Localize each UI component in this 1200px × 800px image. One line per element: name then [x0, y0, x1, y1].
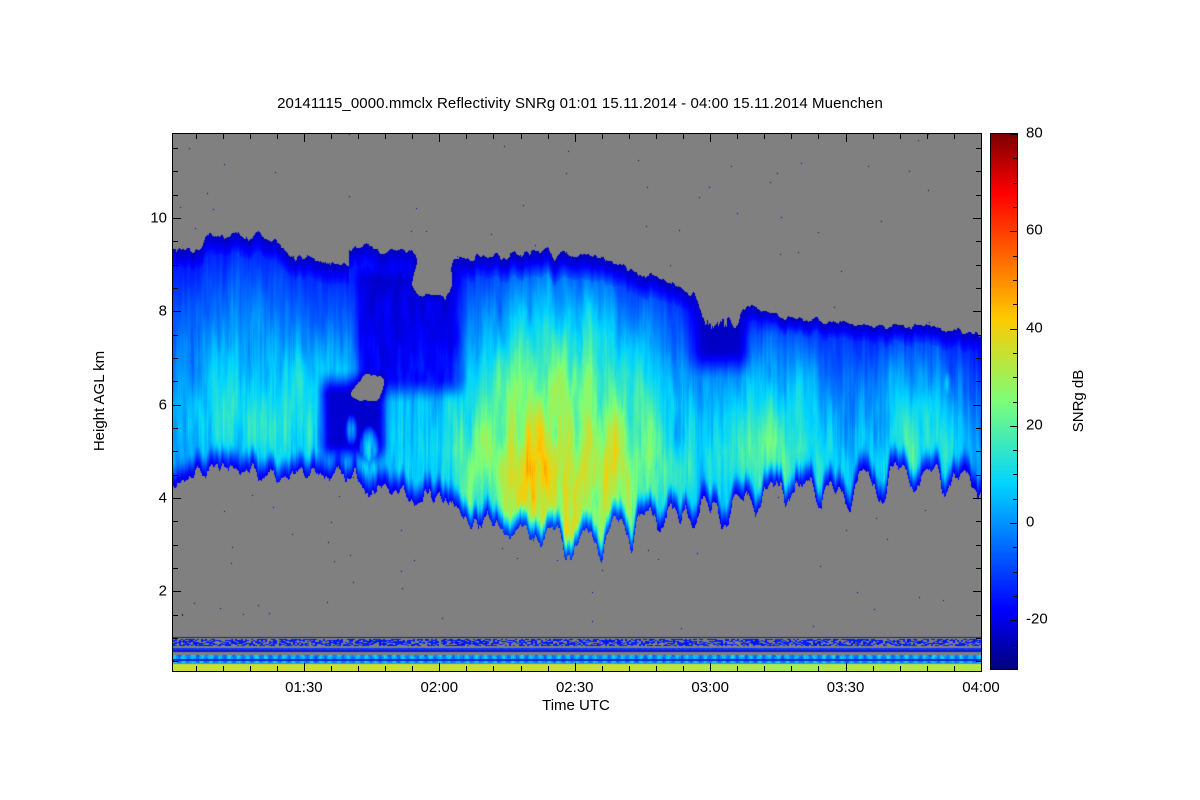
y-axis-tick-right	[973, 218, 982, 219]
x-axis-tick	[331, 666, 332, 672]
y-axis-tick	[172, 335, 178, 336]
x-axis-tick-top	[223, 133, 224, 139]
y-axis-tick-label: 2	[159, 583, 167, 600]
x-axis-tick-top	[196, 133, 197, 139]
y-axis-tick-right	[976, 381, 982, 382]
colorbar-tick	[1013, 450, 1018, 451]
x-axis-tick-top	[304, 133, 305, 142]
x-axis-tick	[521, 666, 522, 672]
x-axis-tick	[710, 663, 711, 672]
x-axis-tick-top	[656, 133, 657, 139]
x-axis-tick-label: 04:00	[962, 679, 1000, 696]
x-axis-tick-top	[764, 133, 765, 139]
x-axis-tick	[493, 666, 494, 672]
colorbar-tick	[1013, 547, 1018, 548]
x-axis-tick	[791, 666, 792, 672]
x-axis-tick	[223, 666, 224, 672]
y-axis-tick-right	[976, 428, 982, 429]
y-axis-title: Height AGL km	[91, 351, 108, 451]
y-axis-tick	[172, 591, 181, 592]
x-axis-tick	[412, 666, 413, 672]
y-axis-tick-right	[976, 335, 982, 336]
x-axis-tick-label: 02:30	[556, 679, 594, 696]
x-axis-tick-top	[358, 133, 359, 139]
y-axis-tick-right	[976, 148, 982, 149]
x-axis-tick	[818, 666, 819, 672]
y-axis-tick	[172, 638, 178, 639]
x-axis-tick-top	[521, 133, 522, 139]
reflectivity-field	[173, 134, 981, 671]
x-axis-tick	[250, 666, 251, 672]
x-axis-tick	[277, 666, 278, 672]
y-axis-tick-right	[973, 405, 982, 406]
y-axis-tick-right	[976, 568, 982, 569]
x-axis-tick	[629, 666, 630, 672]
x-axis-tick-top	[791, 133, 792, 139]
x-axis-tick-top	[439, 133, 440, 142]
radar-time-height-plot: 01:3002:0002:3003:0003:3004:00108642	[172, 133, 982, 672]
x-axis-tick-label: 01:30	[285, 679, 323, 696]
plot-title: 20141115_0000.mmclx Reflectivity SNRg 01…	[0, 95, 1160, 112]
y-axis-tick-right	[976, 241, 982, 242]
x-axis-tick-top	[981, 133, 982, 142]
y-axis-tick	[172, 405, 181, 406]
x-axis-tick-top	[493, 133, 494, 139]
y-axis-tick-right	[976, 638, 982, 639]
x-axis-tick-top	[818, 133, 819, 139]
y-axis-tick	[172, 475, 178, 476]
x-axis-tick	[439, 663, 440, 672]
y-axis-tick-right	[976, 358, 982, 359]
x-axis-tick-top	[548, 133, 549, 139]
colorbar-tick	[1010, 329, 1018, 330]
y-axis-tick-label: 8	[159, 303, 167, 320]
y-axis-tick	[172, 545, 178, 546]
x-axis-tick-label: 03:30	[827, 679, 865, 696]
x-axis-tick-top	[954, 133, 955, 139]
x-axis-tick	[602, 666, 603, 672]
x-axis-tick	[981, 663, 982, 672]
x-axis-tick-label: 02:00	[421, 679, 459, 696]
y-axis-tick	[172, 265, 178, 266]
y-axis-tick	[172, 498, 181, 499]
y-axis-tick-label: 6	[159, 396, 167, 413]
x-axis-tick-top	[710, 133, 711, 142]
x-axis-tick	[764, 666, 765, 672]
y-axis-tick-label: 4	[159, 489, 167, 506]
x-axis-tick	[304, 663, 305, 672]
colorbar-tick	[1013, 280, 1018, 281]
y-axis-tick-right	[976, 171, 982, 172]
colorbar-tick-label: 0	[1026, 514, 1034, 531]
colorbar-tick	[1010, 231, 1018, 232]
colorbar-tick	[1010, 426, 1018, 427]
colorbar-tick	[1013, 596, 1018, 597]
y-axis-tick	[172, 241, 178, 242]
x-axis-tick	[196, 666, 197, 672]
x-axis-tick	[927, 666, 928, 672]
y-axis-tick-right	[973, 311, 982, 312]
colorbar-tick-label: 20	[1026, 416, 1043, 433]
x-axis-tick-top	[602, 133, 603, 139]
y-axis-tick-right	[976, 545, 982, 546]
y-axis-tick	[172, 615, 178, 616]
x-axis-tick	[954, 666, 955, 672]
y-axis-tick-right	[976, 265, 982, 266]
y-axis-tick	[172, 451, 178, 452]
x-axis-tick	[683, 666, 684, 672]
y-axis-tick	[172, 661, 178, 662]
colorbar-tick	[1013, 669, 1018, 670]
y-axis-tick	[172, 358, 178, 359]
colorbar-tick	[1013, 353, 1018, 354]
x-axis-tick-top	[466, 133, 467, 139]
colorbar-tick	[1013, 158, 1018, 159]
x-axis-tick-top	[900, 133, 901, 139]
x-axis-tick-top	[846, 133, 847, 142]
colorbar-tick	[1013, 183, 1018, 184]
y-axis-tick-right	[973, 591, 982, 592]
y-axis-tick	[172, 171, 178, 172]
colorbar-tick	[1013, 207, 1018, 208]
x-axis-title: Time UTC	[172, 697, 980, 714]
x-axis-tick	[575, 663, 576, 672]
x-axis-tick	[900, 666, 901, 672]
y-axis-tick	[172, 521, 178, 522]
colorbar-tick-label: -20	[1026, 611, 1048, 628]
colorbar-tick-label: 40	[1026, 319, 1043, 336]
y-axis-tick	[172, 288, 178, 289]
y-axis-tick	[172, 381, 178, 382]
y-axis-tick-right	[976, 288, 982, 289]
x-axis-tick	[873, 666, 874, 672]
x-axis-tick-top	[331, 133, 332, 139]
colorbar-tick	[1013, 304, 1018, 305]
x-axis-tick-top	[250, 133, 251, 139]
x-axis-tick-top	[873, 133, 874, 139]
figure-canvas: 20141115_0000.mmclx Reflectivity SNRg 01…	[0, 0, 1200, 800]
x-axis-tick-top	[412, 133, 413, 139]
y-axis-tick	[172, 148, 178, 149]
y-axis-tick-right	[976, 521, 982, 522]
x-axis-tick-top	[927, 133, 928, 139]
colorbar-tick	[1010, 523, 1018, 524]
x-axis-tick	[737, 666, 738, 672]
colorbar-tick-label: 80	[1026, 125, 1043, 142]
y-axis-tick-right	[976, 615, 982, 616]
x-axis-tick	[548, 666, 549, 672]
colorbar-tick	[1013, 572, 1018, 573]
y-axis-tick	[172, 568, 178, 569]
x-axis-tick-top	[629, 133, 630, 139]
colorbar-tick	[1010, 134, 1018, 135]
colorbar-title: SNRg dB	[1070, 370, 1087, 433]
x-axis-tick-top	[737, 133, 738, 139]
y-axis-tick	[172, 195, 178, 196]
y-axis-tick	[172, 311, 181, 312]
x-axis-tick	[385, 666, 386, 672]
y-axis-tick-right	[976, 195, 982, 196]
x-axis-tick	[358, 666, 359, 672]
colorbar-tick-label: 60	[1026, 222, 1043, 239]
x-axis-tick	[466, 666, 467, 672]
x-axis-tick-top	[385, 133, 386, 139]
colorbar-tick	[1013, 645, 1018, 646]
y-axis-tick-right	[976, 661, 982, 662]
x-axis-tick	[656, 666, 657, 672]
colorbar-tick	[1013, 256, 1018, 257]
x-axis-tick-label: 03:00	[691, 679, 729, 696]
colorbar-tick	[1010, 620, 1018, 621]
y-axis-tick-right	[973, 498, 982, 499]
y-axis-tick	[172, 218, 181, 219]
colorbar-tick	[1013, 474, 1018, 475]
colorbar	[990, 133, 1018, 670]
colorbar-tick	[1013, 402, 1018, 403]
x-axis-tick-top	[683, 133, 684, 139]
x-axis-tick-top	[575, 133, 576, 142]
y-axis-tick	[172, 428, 178, 429]
y-axis-tick-right	[976, 475, 982, 476]
x-axis-tick	[846, 663, 847, 672]
colorbar-tick	[1013, 377, 1018, 378]
y-axis-tick-label: 10	[150, 209, 167, 226]
y-axis-tick-right	[976, 451, 982, 452]
colorbar-tick	[1013, 499, 1018, 500]
x-axis-tick-top	[277, 133, 278, 139]
